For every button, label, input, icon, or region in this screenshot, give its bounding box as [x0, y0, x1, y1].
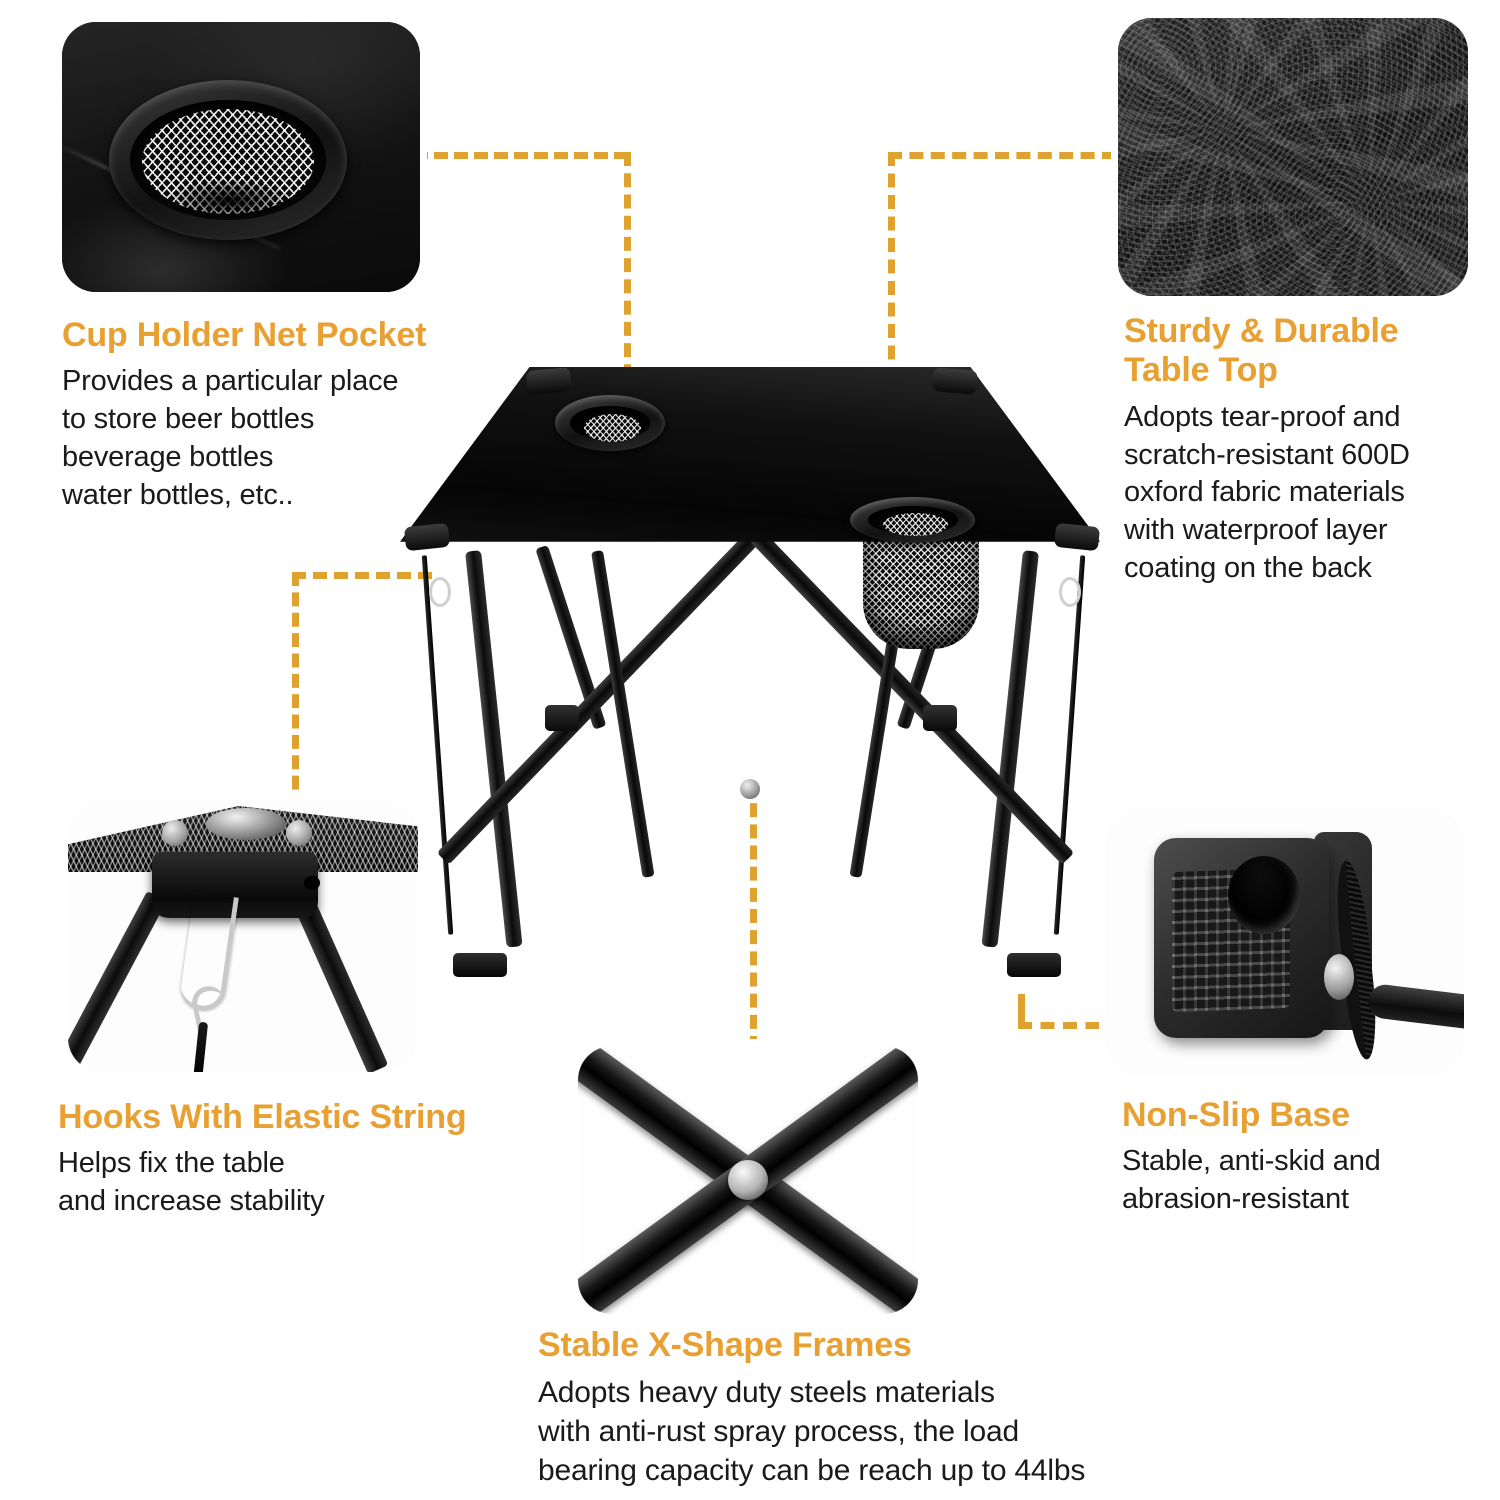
top-corner-front-right	[1054, 523, 1100, 551]
photo-oxford-fabric-texture	[1118, 18, 1468, 296]
leg-tube-right	[291, 892, 388, 1072]
cup-holder-opening	[130, 100, 326, 220]
feature-body-table-top: Adopts tear-proof andscratch-resistant 6…	[1124, 399, 1482, 587]
connector-fabric-horizontal	[888, 152, 1116, 159]
feature-heading-table-top: Sturdy & DurableTable Top	[1124, 312, 1482, 391]
table-top-edge-trim	[400, 367, 1100, 557]
connector-hook-vertical	[292, 572, 299, 810]
leg-tube-left	[68, 891, 167, 1069]
base-rivet	[1324, 954, 1354, 1000]
photo-cup-holder-net-pocket	[62, 22, 420, 292]
feature-text-hooks: Hooks With Elastic String Helps fix the …	[58, 1098, 538, 1221]
foot-right	[1007, 953, 1061, 977]
cup-holder-net-bag	[863, 531, 979, 649]
feature-text-x-frame: Stable X-Shape Frames Adopts heavy duty …	[538, 1326, 1188, 1490]
steel-tube	[1366, 983, 1464, 1031]
feature-text-non-slip-base: Non-Slip Base Stable, anti-skid andabras…	[1122, 1096, 1482, 1219]
feature-body-non-slip-base: Stable, anti-skid andabrasion-resistant	[1122, 1143, 1482, 1218]
connector-cup-horizontal	[414, 152, 628, 159]
hook-clip-left	[429, 577, 451, 607]
hook-clip-right	[1059, 577, 1081, 607]
tube-socket-hole	[1228, 856, 1300, 934]
feature-text-table-top: Sturdy & DurableTable Top Adopts tear-pr…	[1124, 312, 1482, 587]
elastic-cord	[193, 1022, 208, 1072]
mesh-net-icon	[584, 414, 641, 442]
feature-heading-x-frame: Stable X-Shape Frames	[538, 1326, 1188, 1365]
hub-rivet-left	[162, 820, 188, 846]
leg-front-left	[465, 550, 523, 947]
hinge-left	[545, 705, 579, 731]
feature-body-hooks: Helps fix the tableand increase stabilit…	[58, 1145, 538, 1220]
mesh-shadow	[169, 179, 291, 215]
feature-text-cup-holder: Cup Holder Net Pocket Provides a particu…	[62, 316, 502, 514]
hub-hole	[304, 876, 320, 890]
elastic-cord-right	[1054, 555, 1085, 934]
metal-cap	[206, 808, 286, 840]
feature-heading-cup-holder: Cup Holder Net Pocket	[62, 316, 502, 355]
feature-heading-hooks: Hooks With Elastic String	[58, 1098, 538, 1137]
feature-body-x-frame: Adopts heavy duty steels materialswith a…	[538, 1373, 1188, 1490]
mesh-net-icon	[883, 513, 948, 536]
top-corner-back-right	[932, 367, 978, 395]
hub-rivet-right	[286, 820, 312, 846]
leg-front-right	[981, 550, 1039, 947]
elastic-cord-left	[422, 555, 453, 934]
top-corner-back-left	[526, 367, 572, 395]
photo-hook-elastic-string	[68, 800, 418, 1072]
top-corner-front-left	[404, 523, 450, 551]
photo-non-slip-base	[1106, 808, 1464, 1076]
foot-left	[453, 953, 507, 977]
feature-heading-non-slip-base: Non-Slip Base	[1122, 1096, 1482, 1135]
fabric-speckle-highlights	[1118, 18, 1468, 296]
center-screw-icon	[728, 1160, 768, 1200]
feature-body-cup-holder: Provides a particular placeto store beer…	[62, 363, 502, 514]
photo-x-shape-frame	[578, 1046, 918, 1314]
x-brace-pivot-screw	[740, 779, 760, 799]
infographic-canvas: Cup Holder Net Pocket Provides a particu…	[0, 0, 1500, 1500]
cup-holder-ring	[109, 80, 347, 240]
hinge-right	[923, 705, 957, 731]
cup-holder-left	[555, 395, 665, 451]
cup-holder-right	[850, 497, 975, 543]
